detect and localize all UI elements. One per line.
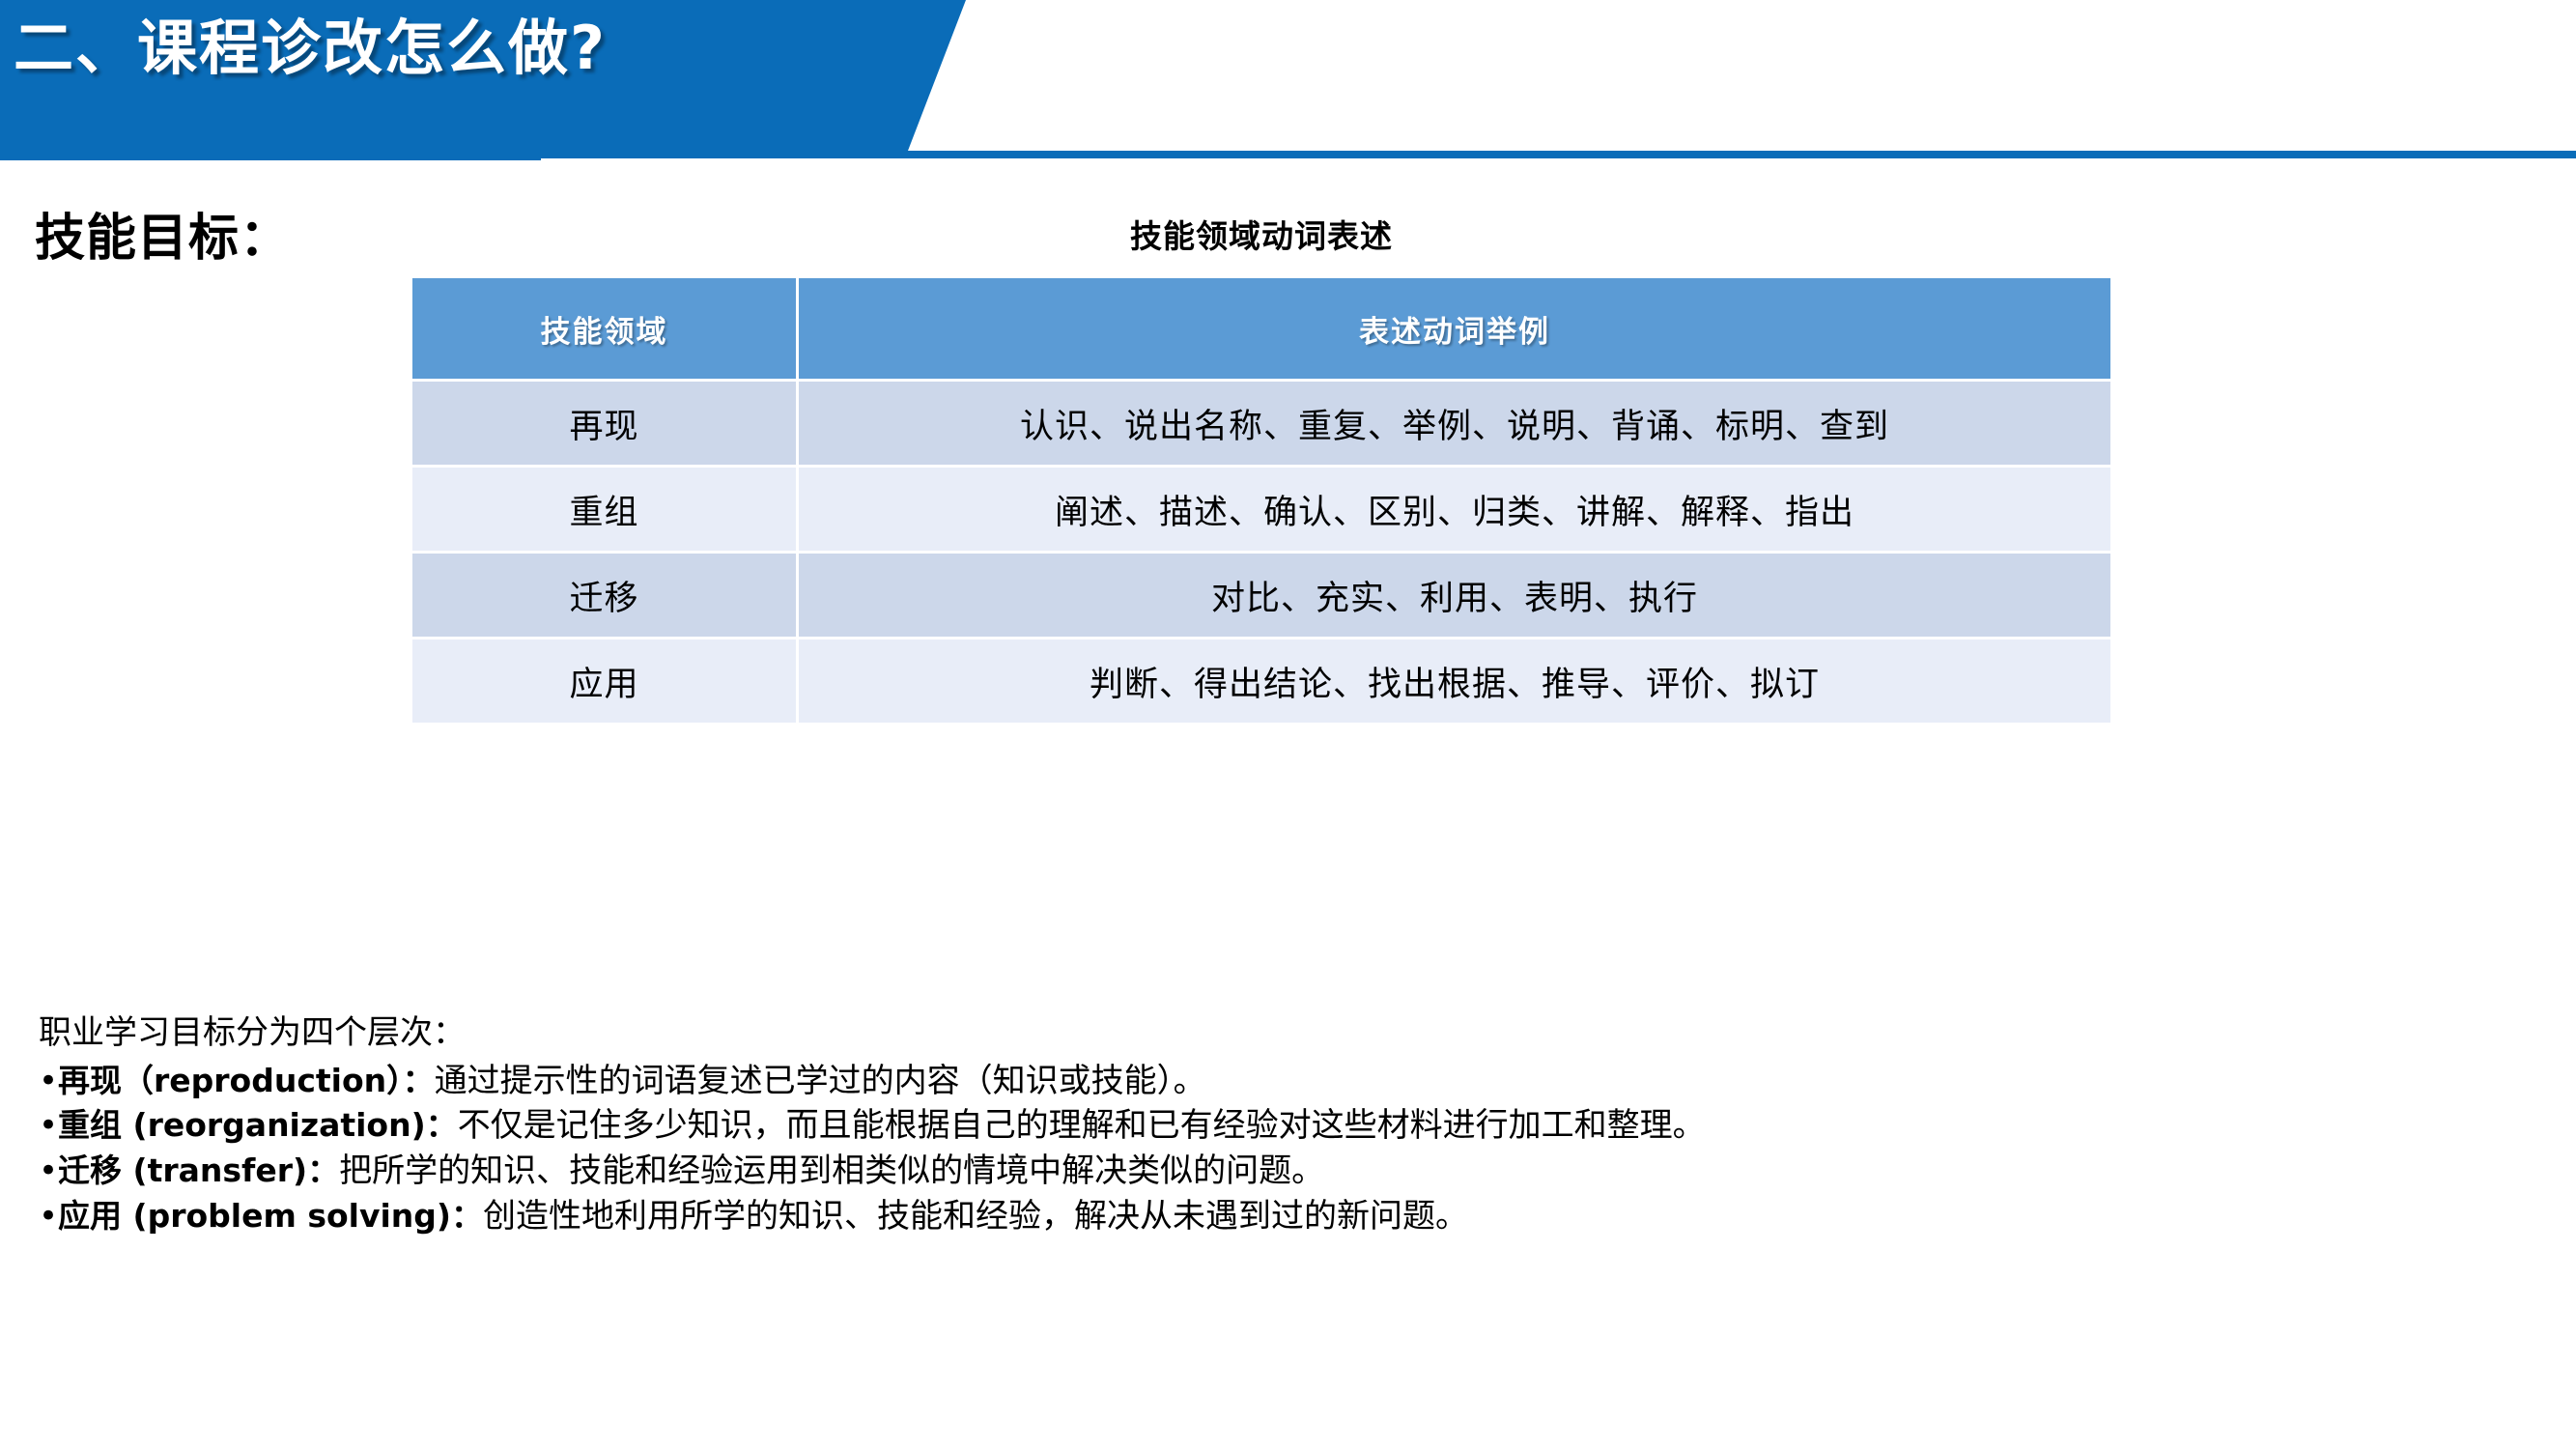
page-title: 技能目标： [35, 197, 291, 270]
table-row: 重组 阐述、描述、确认、区别、归类、讲解、解释、指出 [412, 465, 2110, 551]
cell-domain: 再现 [412, 379, 799, 465]
column-header-domain: 技能领域 [412, 278, 799, 379]
list-item: •再现（reproduction）：通过提示性的词语复述已学过的内容（知识或技能… [39, 1059, 2540, 1104]
table-row: 应用 判断、得出结论、找出根据、推导、评价、拟订 [412, 637, 2110, 723]
cell-verbs: 判断、得出结论、找出根据、推导、评价、拟订 [799, 637, 2110, 723]
bullet-icon: • [39, 1103, 58, 1149]
notes-block: 职业学习目标分为四个层次： •再现（reproduction）：通过提示性的词语… [39, 1012, 2540, 1239]
note-text: 不仅是记住多少知识，而且能根据自己的理解和已有经验对这些材料进行加工和整理。 [458, 1106, 1706, 1145]
bullet-icon: • [39, 1149, 58, 1194]
note-term: 应用 (problem solving)： [58, 1197, 483, 1235]
banner-rule-join [0, 145, 541, 160]
section-banner: 二、课程诊改怎么做? [0, 0, 966, 151]
cell-verbs: 认识、说出名称、重复、举例、说明、背诵、标明、查到 [799, 379, 2110, 465]
column-header-verbs: 表述动词举例 [799, 278, 2110, 379]
section-title: 二、课程诊改怎么做? [14, 15, 607, 81]
bullet-icon: • [39, 1059, 58, 1104]
bullet-icon: • [39, 1194, 58, 1239]
cell-domain: 应用 [412, 637, 799, 723]
table-row: 再现 认识、说出名称、重复、举例、说明、背诵、标明、查到 [412, 379, 2110, 465]
cell-verbs: 对比、充实、利用、表明、执行 [799, 551, 2110, 637]
list-item: •应用 (problem solving)：创造性地利用所学的知识、技能和经验，… [39, 1194, 2540, 1239]
verb-table-block: 技能领域动词表述 技能领域 表述动词举例 再现 认识、说出名称、重复、举例、说明… [412, 211, 2110, 723]
skill-verb-table: 技能领域 表述动词举例 再现 认识、说出名称、重复、举例、说明、背诵、标明、查到… [412, 278, 2110, 723]
list-item: •迁移 (transfer)：把所学的知识、技能和经验运用到相类似的情境中解决类… [39, 1149, 2540, 1194]
table-header-row: 技能领域 表述动词举例 [412, 278, 2110, 379]
notes-lead: 职业学习目标分为四个层次： [39, 1012, 2540, 1055]
note-term: 再现（reproduction）： [58, 1062, 435, 1099]
note-term: 重组 (reorganization)： [58, 1106, 458, 1144]
table-caption: 技能领域动词表述 [412, 211, 2110, 257]
note-text: 创造性地利用所学的知识、技能和经验，解决从未遇到过的新问题。 [483, 1197, 1468, 1236]
notes-list: •再现（reproduction）：通过提示性的词语复述已学过的内容（知识或技能… [39, 1059, 2540, 1240]
cell-domain: 重组 [412, 465, 799, 551]
note-text: 把所学的知识、技能和经验运用到相类似的情境中解决类似的问题。 [339, 1151, 1324, 1190]
cell-domain: 迁移 [412, 551, 799, 637]
cell-verbs: 阐述、描述、确认、区别、归类、讲解、解释、指出 [799, 465, 2110, 551]
note-text: 通过提示性的词语复述已学过的内容（知识或技能）。 [435, 1062, 1206, 1100]
list-item: •重组 (reorganization)：不仅是记住多少知识，而且能根据自己的理… [39, 1103, 2540, 1149]
note-term: 迁移 (transfer)： [58, 1151, 339, 1189]
table-row: 迁移 对比、充实、利用、表明、执行 [412, 551, 2110, 637]
